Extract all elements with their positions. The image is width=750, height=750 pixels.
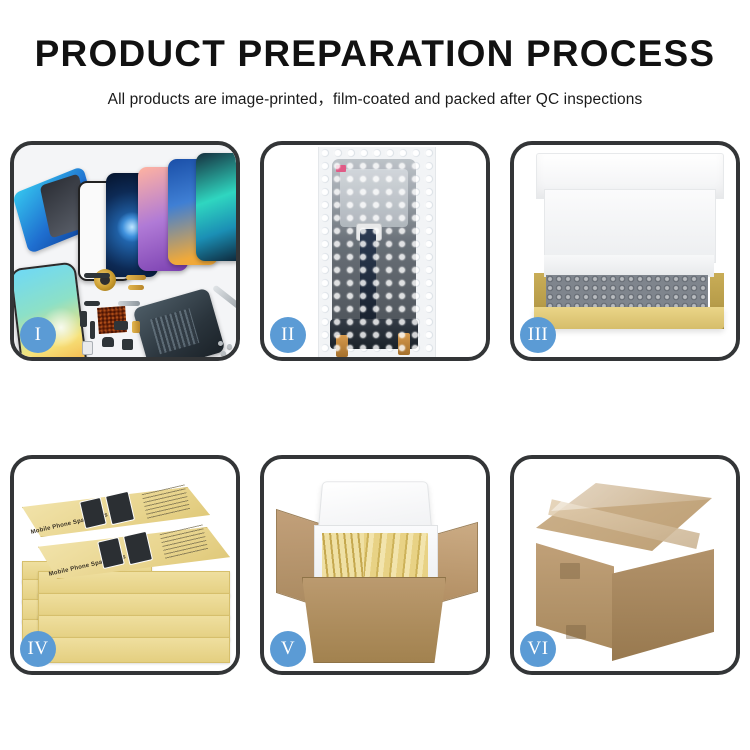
small-part-3 — [128, 285, 144, 290]
gold-tab-left — [336, 335, 348, 357]
step-panel-1: I — [10, 141, 240, 361]
pink-sticker — [336, 165, 346, 172]
step-panel-4: Mobile Phone Spare Parts Mobile Phone Sp… — [10, 455, 240, 675]
step-panel-3: III — [510, 141, 740, 361]
small-part-2 — [126, 275, 146, 280]
carton-right-face — [612, 549, 714, 661]
page-header: PRODUCT PREPARATION PROCESS All products… — [0, 0, 750, 109]
grey-bubble-padding — [546, 275, 708, 309]
step-panel-6: VI — [510, 455, 740, 675]
step-badge-2: II — [270, 317, 306, 353]
process-steps-grid: I II III — [10, 141, 740, 675]
small-part-6 — [90, 321, 95, 339]
phone-rear-housing — [132, 288, 225, 357]
step-badge-6: VI — [520, 631, 556, 667]
small-part-9 — [102, 337, 114, 347]
page-title: PRODUCT PREPARATION PROCESS — [0, 34, 750, 75]
stacked-box-h — [38, 637, 230, 663]
page-subtitle: All products are image-printed，film-coat… — [0, 87, 750, 109]
yellow-boxes-inside-left — [322, 533, 364, 581]
box-lid-inner-wall — [544, 189, 716, 263]
step-badge-3: III — [520, 317, 556, 353]
box-stack: Mobile Phone Spare Parts Mobile Phone Sp… — [22, 475, 234, 667]
tweezers-tool — [212, 285, 236, 312]
white-foam-sheet — [544, 255, 714, 277]
gold-tab-right — [398, 333, 410, 355]
step-panel-2: II — [260, 141, 490, 361]
phone-screen-teal — [196, 153, 236, 261]
small-part-11 — [122, 339, 133, 350]
small-part-10 — [82, 341, 93, 355]
small-part-8 — [114, 321, 128, 330]
carton-hand-tab-top — [560, 563, 580, 579]
step-badge-5: V — [270, 631, 306, 667]
carton-body — [302, 577, 446, 663]
lcd-flex-cable — [360, 229, 376, 325]
step-badge-1: I — [20, 317, 56, 353]
tray-front-edge — [534, 307, 724, 329]
small-part-7 — [118, 301, 140, 306]
small-part-4 — [84, 301, 100, 306]
screws-group — [218, 341, 236, 357]
step-badge-4: IV — [20, 631, 56, 667]
small-part-1 — [84, 273, 110, 278]
small-part-12 — [132, 321, 140, 333]
step-panel-5: V — [260, 455, 490, 675]
carton-hand-tab-bottom — [566, 625, 586, 639]
small-part-5 — [80, 311, 87, 327]
